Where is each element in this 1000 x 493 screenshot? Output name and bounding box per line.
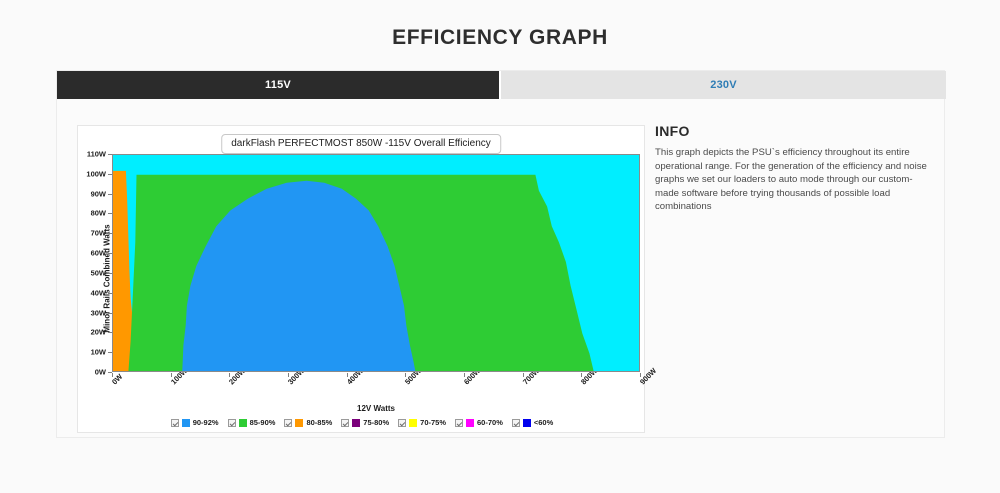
legend-item[interactable]: 60-70% <box>455 418 503 427</box>
legend-checkbox[interactable] <box>398 419 406 427</box>
info-title: INFO <box>655 123 930 139</box>
tab-230v-label: 230V <box>710 79 737 91</box>
legend-label: 85-90% <box>250 418 276 427</box>
x-tick-label: 900W <box>638 366 658 386</box>
y-tick-label: 30W <box>66 308 106 317</box>
efficiency-card: 115V 230V darkFlash PERFECTMOST 850W -11… <box>56 70 945 438</box>
efficiency-heatmap <box>112 154 640 372</box>
page-title: EFFICIENCY GRAPH <box>0 26 1000 50</box>
legend-color-swatch <box>523 419 531 427</box>
legend-item[interactable]: 90-92% <box>171 418 219 427</box>
voltage-tab-bar: 115V 230V <box>57 71 946 99</box>
legend-label: <60% <box>534 418 553 427</box>
legend-color-swatch <box>239 419 247 427</box>
legend-color-swatch <box>182 419 190 427</box>
y-tick-label: 10W <box>66 348 106 357</box>
y-tick-label: 100W <box>66 169 106 178</box>
y-tick-label: 80W <box>66 209 106 218</box>
legend-label: 75-80% <box>363 418 389 427</box>
chart-panel: darkFlash PERFECTMOST 850W -115V Overall… <box>77 125 645 433</box>
y-tick-label: 0W <box>66 368 106 377</box>
legend-item[interactable]: <60% <box>512 418 553 427</box>
legend-checkbox[interactable] <box>228 419 236 427</box>
plot-wrapper: Minor Rails Combined Watts 12V Watts 0W1… <box>78 126 646 434</box>
legend-label: 80-85% <box>306 418 332 427</box>
tab-115v[interactable]: 115V <box>57 71 501 99</box>
legend-checkbox[interactable] <box>341 419 349 427</box>
legend-item[interactable]: 85-90% <box>228 418 276 427</box>
chart-legend: 90-92%85-90%80-85%75-80%70-75%60-70%<60% <box>78 418 646 427</box>
legend-color-swatch <box>466 419 474 427</box>
y-tick-label: 90W <box>66 189 106 198</box>
legend-checkbox[interactable] <box>171 419 179 427</box>
y-tick-label: 70W <box>66 229 106 238</box>
legend-item[interactable]: 75-80% <box>341 418 389 427</box>
legend-checkbox[interactable] <box>284 419 292 427</box>
legend-label: 60-70% <box>477 418 503 427</box>
y-tick-label: 40W <box>66 288 106 297</box>
y-tick-label: 60W <box>66 249 106 258</box>
y-tick-label: 20W <box>66 328 106 337</box>
legend-label: 70-75% <box>420 418 446 427</box>
tab-115v-label: 115V <box>265 79 291 91</box>
info-section: INFO This graph depicts the PSU`s effici… <box>655 123 930 214</box>
legend-checkbox[interactable] <box>455 419 463 427</box>
legend-item[interactable]: 80-85% <box>284 418 332 427</box>
info-body: This graph depicts the PSU`s efficiency … <box>655 146 930 214</box>
legend-checkbox[interactable] <box>512 419 520 427</box>
legend-color-swatch <box>352 419 360 427</box>
legend-color-swatch <box>409 419 417 427</box>
y-tick-label: 50W <box>66 268 106 277</box>
page-root: EFFICIENCY GRAPH 115V 230V darkFlash PER… <box>0 0 1000 493</box>
x-axis: 0W100W200W300W400W500W600W700W800W900W <box>112 373 640 413</box>
y-axis: 0W10W20W30W40W50W60W70W80W90W100W110W <box>78 154 112 372</box>
y-tick-label: 110W <box>66 150 106 159</box>
tab-230v[interactable]: 230V <box>501 71 946 99</box>
legend-color-swatch <box>295 419 303 427</box>
legend-label: 90-92% <box>193 418 219 427</box>
legend-item[interactable]: 70-75% <box>398 418 446 427</box>
